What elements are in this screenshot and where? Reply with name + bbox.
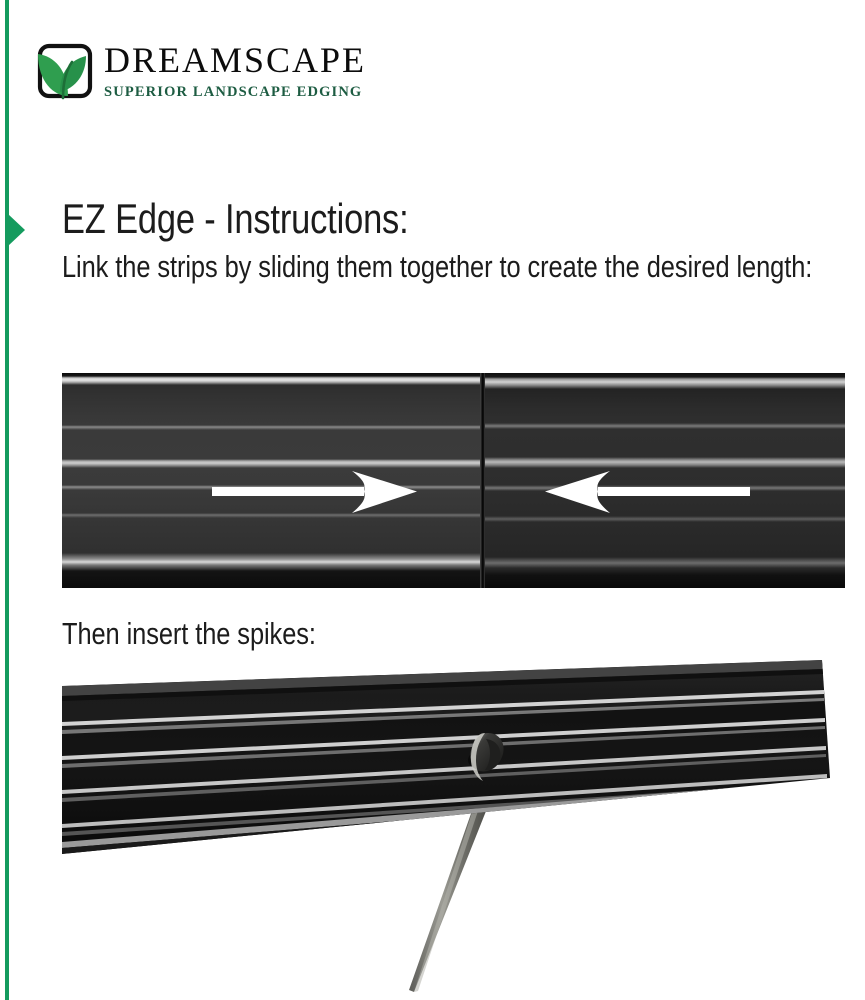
spike-illustration [62,660,845,1000]
figure-insert-spike [62,660,845,1000]
instructions-block: EZ Edge - Instructions: Link the strips … [62,196,852,288]
brand-wordmark: DREAMSCAPE SUPERIOR LANDSCAPE EDGING [104,42,424,100]
brand-tagline: SUPERIOR LANDSCAPE EDGING [104,85,424,100]
brand-header: DREAMSCAPE SUPERIOR LANDSCAPE EDGING [30,40,430,112]
triangle-right-marker-icon [8,214,25,246]
step-two-text: Then insert the spikes: [62,615,316,652]
page-title: EZ Edge - Instructions: [62,196,710,241]
arrow-left-icon [540,469,750,515]
accent-rail [5,0,9,1000]
brand-name: DREAMSCAPE [104,42,424,78]
leaf-in-square-icon [30,40,98,108]
figure-linking-strips [62,373,845,588]
edging-strip-angled [62,660,830,854]
strip-seam [480,373,485,588]
step-one-text: Link the strips by sliding them together… [62,247,849,288]
arrow-right-icon [212,469,422,515]
